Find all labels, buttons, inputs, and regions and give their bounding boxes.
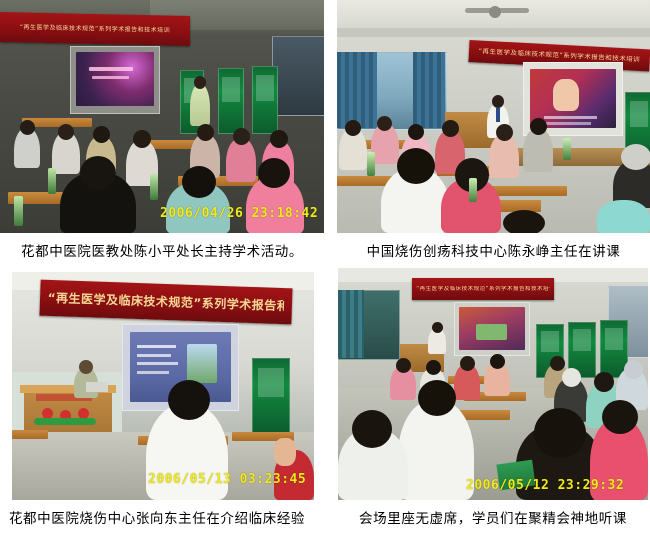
audience-head (594, 372, 614, 392)
audience-head (396, 358, 411, 373)
audience-head (168, 380, 210, 420)
curtain (413, 52, 445, 128)
audience-member-foreground (597, 200, 650, 233)
audience-head (550, 356, 565, 371)
speaker-head (194, 76, 206, 89)
water-bottle (14, 196, 23, 226)
event-banner: “再生医学及临床技术规范”系列学术报告和技术培训 (39, 280, 292, 325)
gallery-cell-2: “再生医学及临床技术规范”系列学术报告和技术培训 (337, 0, 650, 262)
projected-slide (76, 52, 153, 106)
audience-head (352, 410, 392, 448)
audience-head (408, 124, 424, 140)
audience-head (496, 124, 513, 141)
ceiling-beam (337, 28, 650, 37)
photo-timestamp: 2006/04/26 23:18:42 (160, 206, 318, 221)
water-bottle (367, 152, 375, 176)
exhibition-stand (218, 68, 244, 134)
photo-caption: 花都中医院医教处陈小平处长主持学术活动。 (0, 233, 324, 262)
water-bottle (150, 174, 158, 200)
audience-head (93, 126, 110, 143)
photo-3[interactable]: “再生医学及临床技术规范”系列学术报告和技术培训 (12, 272, 314, 500)
window (272, 36, 324, 116)
slide-image (187, 344, 217, 383)
slide-hand-image (553, 79, 578, 111)
audience-head (258, 158, 290, 188)
laptop (86, 382, 108, 392)
projection-screen (454, 302, 530, 356)
event-banner-text: “再生医学及临床技术规范”系列学术报告和技术培训 (6, 24, 185, 35)
gallery-cell-3: “再生医学及临床技术规范”系列学术报告和技术培训 (12, 272, 324, 529)
speaker-tie (496, 108, 500, 122)
photo-timestamp: 2006/05/13 03:23:45 (148, 472, 306, 487)
exhibition-stand (252, 358, 290, 434)
exhibition-stand (252, 66, 278, 134)
audience-head (460, 356, 475, 371)
photo-gallery: “再生医学及临床技术规范”系列学术报告和技术培训 (0, 0, 650, 534)
hand (274, 438, 296, 466)
audience-head (377, 116, 392, 131)
photo-timestamp: 2006/05/12 23:29:32 (466, 478, 624, 493)
audience-head (426, 360, 441, 375)
audience-head (624, 360, 643, 379)
audience-head (621, 144, 650, 170)
audience-head (197, 124, 214, 141)
photo-4[interactable]: “再生医学及临床技术规范”系列学术报告和技术培训 (338, 268, 648, 500)
event-banner: “再生医学及临床技术规范”系列学术报告和技术培训 (412, 278, 554, 300)
gallery-cell-1: “再生医学及临床技术规范”系列学术报告和技术培训 (0, 0, 324, 262)
ceiling-fan-hub (489, 6, 501, 18)
podium-leaf (34, 418, 96, 425)
audience-head (58, 124, 74, 140)
photo-2[interactable]: “再生医学及临床技术规范”系列学术报告和技术培训 (337, 0, 650, 233)
audience-head (345, 120, 361, 136)
audience-head (530, 118, 547, 135)
audience-head (418, 380, 456, 416)
desk (12, 430, 48, 439)
audience-head (20, 120, 35, 135)
photo-caption: 中国烧伤创疡科技中心陈永峥主任在讲课 (337, 233, 650, 262)
speaker-head (79, 360, 93, 374)
photo-1[interactable]: “再生医学及临床技术规范”系列学术报告和技术培训 (0, 0, 324, 233)
gallery-cell-4: “再生医学及临床技术规范”系列学术报告和技术培训 (338, 268, 650, 529)
audience-head (182, 166, 216, 198)
audience-head (442, 120, 459, 137)
projection-screen (70, 46, 160, 114)
audience-head (490, 354, 505, 369)
curtain (337, 52, 377, 128)
event-banner: “再生医学及临床技术规范”系列学术报告和技术培训 (0, 12, 190, 46)
audience-head (562, 368, 581, 387)
audience-head (503, 210, 545, 233)
speaker-head (492, 95, 504, 108)
audience-head (133, 130, 151, 148)
audience-head (534, 408, 586, 458)
event-banner-text: “再生医学及临床技术规范”系列学术报告和技术培训 (416, 286, 550, 292)
photo-caption: 会场里座无虚席，学员们在聚精会神地听课 (338, 500, 648, 529)
water-bottle (48, 168, 56, 194)
water-bottle (469, 178, 477, 202)
audience-head (397, 148, 435, 184)
water-bottle (563, 138, 571, 160)
speaker-head (432, 322, 443, 333)
curtain (338, 290, 364, 358)
desk (487, 186, 567, 196)
photo-caption: 花都中医院烧伤中心张向东主任在介绍临床经验 (6, 500, 308, 529)
audience-head (233, 128, 250, 145)
audience-head (80, 156, 116, 190)
audience-head (270, 130, 288, 148)
slide-image (476, 324, 507, 341)
event-banner-text: “再生医学及临床技术规范”系列学术报告和技术培训 (47, 291, 284, 313)
speaker (190, 84, 210, 126)
audience-head (602, 400, 638, 434)
